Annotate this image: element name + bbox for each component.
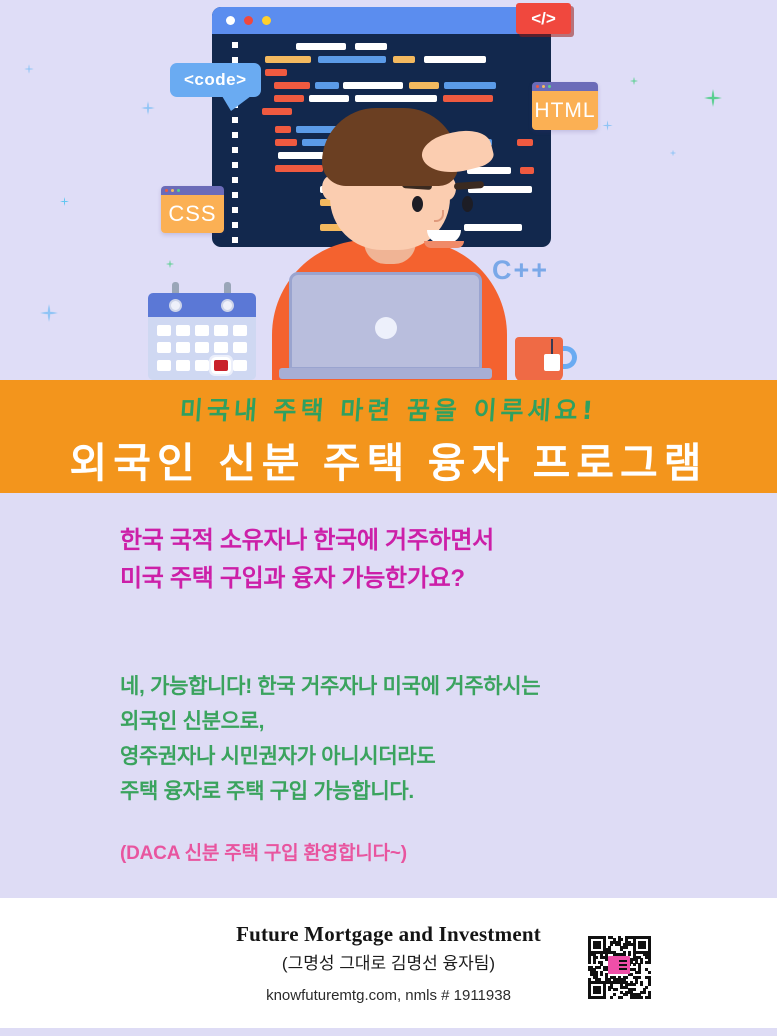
banner-subtitle: 미국내 주택 마련 꿈을 이루세요! [0,391,777,427]
sparkle-icon [36,300,62,326]
window-dot-red-icon [244,16,253,25]
calendar-marked-day [214,360,228,371]
tea-bag-string [551,339,553,355]
answer-line: 외국인 신분으로, [120,704,540,739]
tea-bag-tag [544,354,560,371]
answer-block: 네, 가능합니다! 한국 거주자나 미국에 거주하시는 외국인 신분으로, 영주… [120,669,540,809]
question-line: 미국 주택 구입과 융자 가능한가요? [120,560,494,598]
content-section: 한국 국적 소유자나 한국에 거주하면서 미국 주택 구입과 융자 가능한가요?… [0,493,777,898]
code-tag-badge: </> [516,3,571,34]
bottom-strip [0,1028,777,1036]
footer: Future Mortgage and Investment (그명성 그대로 … [0,898,777,1028]
sparkle-icon [164,258,176,270]
answer-line: 주택 융자로 주택 구입 가능합니다. [120,774,540,809]
character-hair-sweep [418,124,496,180]
sparkle-icon [628,75,640,87]
question-line: 한국 국적 소유자나 한국에 거주하면서 [120,522,494,560]
company-name: Future Mortgage and Investment [0,922,777,947]
calendar-header [148,293,256,317]
html-window-label: HTML [532,91,598,130]
banner-title: 외국인 신분 주택 융자 프로그램 [0,429,777,489]
laptop [279,272,492,380]
answer-line: 영주권자나 시민권자가 아니시더라도 [120,739,540,774]
css-window-titlebar [161,186,224,195]
code-bubble-label: <code> [184,70,247,89]
sparkle-icon [22,62,36,76]
sparkle-icon [668,148,678,158]
calendar-hole-right [221,299,234,312]
question-block: 한국 국적 소유자나 한국에 거주하면서 미국 주택 구입과 융자 가능한가요? [120,522,494,598]
qr-code[interactable] [588,936,650,998]
editor-titlebar [212,7,551,34]
sparkle-icon [700,85,726,111]
window-dot-yellow-icon [262,16,271,25]
calendar-grid [148,317,256,380]
poster-root: <code> </> CSS HTML C++ [0,0,777,1036]
character-nose [434,210,444,222]
html-tag-window: HTML [532,82,598,130]
calendar [148,290,256,380]
window-dot-white-icon [226,16,235,25]
code-speech-bubble: <code> [170,63,261,97]
answer-line: 네, 가능합니다! 한국 거주자나 미국에 거주하시는 [120,669,540,704]
calendar-hole-left [169,299,182,312]
company-subtitle: (그명성 그대로 김명선 융자팀) [0,949,777,974]
character-eyebrow-right [454,181,484,190]
character-mouth [427,230,461,243]
laptop-logo-icon [375,317,397,339]
sparkle-icon [138,98,158,118]
sparkle-icon [58,195,71,208]
css-tag-window: CSS [161,186,224,233]
code-tag-badge-label: </> [531,9,556,29]
html-window-titlebar [532,82,598,91]
website-nmls-line: knowfuturemtg.com, nmls # 1911938 [0,987,777,1004]
character-eye-left [412,196,423,212]
laptop-base [279,368,492,379]
daca-note: (DACA 신분 주택 구입 환영합니다~) [120,838,407,865]
css-window-label: CSS [161,195,224,233]
sparkle-icon [600,118,615,133]
coffee-mug [515,337,577,380]
character-eye-right [462,196,473,212]
qr-center-logo-icon [608,956,630,974]
character-hair [322,108,458,186]
headline-banner: 미국내 주택 마련 꿈을 이루세요! 외국인 신분 주택 융자 프로그램 [0,380,777,493]
hero-illustration: <code> </> CSS HTML C++ [0,0,777,380]
laptop-lid [289,272,482,370]
